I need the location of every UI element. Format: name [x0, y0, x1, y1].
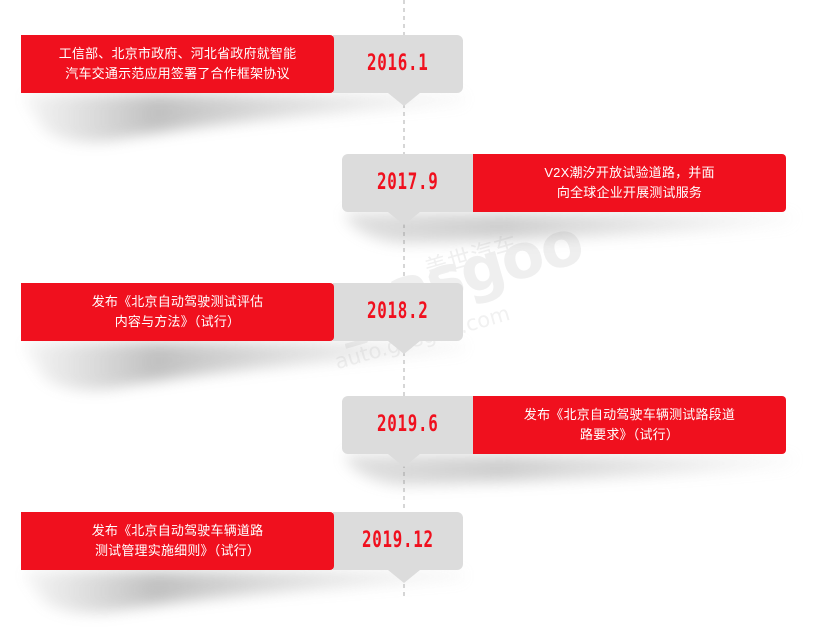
year-label: 2016.1: [367, 53, 429, 75]
event-description: 工信部、北京市政府、河北省政府就智能 汽车交通示范应用签署了合作框架协议: [21, 35, 334, 93]
year-panel-pointer: [388, 212, 420, 225]
event-text-line-2: 向全球企业开展测试服务: [557, 185, 702, 200]
event-text-line-1: 工信部、北京市政府、河北省政府就智能: [59, 46, 297, 61]
event-text-line-2: 汽车交通示范应用签署了合作框架协议: [65, 66, 289, 81]
year-panel: 2018.2: [333, 283, 463, 341]
timeline-infographic: 盖世汽车 gasgoo auto.gasgoo.com 2016.1: [0, 0, 823, 599]
event-text-line-1: V2X潮汐开放试验道路，并面: [544, 165, 714, 180]
year-label: 2019.6: [377, 414, 439, 436]
year-panel: 2019.12: [333, 512, 463, 570]
timeline-event-row: 2018.2 发布《北京自动驾驶测试评估 内容与方法》（试行）: [0, 283, 823, 403]
event-description: V2X潮汐开放试验道路，并面 向全球企业开展测试服务: [473, 154, 786, 212]
year-panel: 2019.6: [342, 396, 473, 454]
event-text-line-2: 测试管理实施细则》（试行）: [95, 543, 260, 558]
event-text-line-2: 内容与方法》（试行）: [115, 314, 241, 329]
year-panel-pointer: [388, 341, 420, 354]
event-text-line-1: 发布《北京自动驾驶车辆道路: [92, 523, 264, 538]
year-panel-pointer: [388, 93, 420, 106]
year-panel-pointer: [388, 454, 420, 467]
event-description: 发布《北京自动驾驶车辆道路 测试管理实施细则》（试行）: [21, 512, 334, 570]
year-panel: 2016.1: [333, 35, 463, 93]
timeline-event-row: 2019.12 发布《北京自动驾驶车辆道路 测试管理实施细则》（试行）: [0, 512, 823, 632]
year-panel: 2017.9: [342, 154, 473, 212]
year-label: 2018.2: [367, 301, 429, 323]
year-label: 2019.12: [362, 530, 434, 552]
year-label: 2017.9: [377, 172, 439, 194]
year-panel-pointer: [388, 570, 420, 583]
event-text-line-2: 路要求》（试行）: [580, 427, 679, 442]
timeline-event-row: 2016.1 工信部、北京市政府、河北省政府就智能 汽车交通示范应用签署了合作框…: [0, 35, 823, 155]
timeline-event-row: 2019.6 发布《北京自动驾驶车辆测试路段道 路要求》（试行）: [0, 396, 823, 516]
event-description: 发布《北京自动驾驶测试评估 内容与方法》（试行）: [21, 283, 334, 341]
timeline-event-row: 2017.9 V2X潮汐开放试验道路，并面 向全球企业开展测试服务: [0, 154, 823, 274]
event-description: 发布《北京自动驾驶车辆测试路段道 路要求》（试行）: [473, 396, 786, 454]
event-text-line-1: 发布《北京自动驾驶车辆测试路段道: [524, 407, 735, 422]
event-text-line-1: 发布《北京自动驾驶测试评估: [92, 294, 264, 309]
